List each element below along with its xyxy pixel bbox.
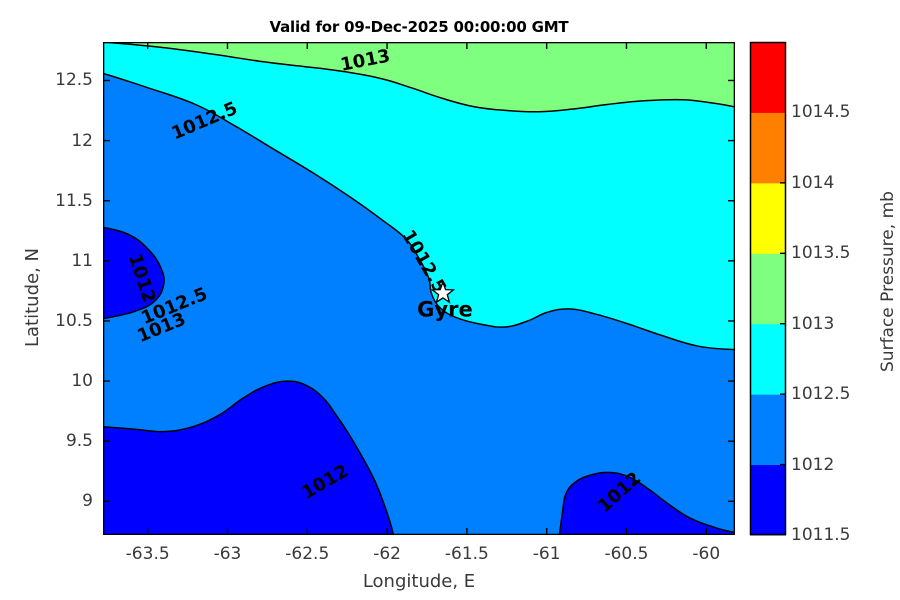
x-tick-label-4: -61.5 <box>445 544 489 564</box>
contour-plot: 10131012.51012.510121012.5101310121012Gy… <box>103 42 735 535</box>
colorbar-band-1011.5 <box>750 465 786 536</box>
x-axis-label: Longitude, E <box>103 571 735 592</box>
colorbar-label-6: 1014.5 <box>791 102 850 122</box>
y-tick-label-5: 11.5 <box>5 191 93 211</box>
colorbar-label-4: 1013.5 <box>791 243 850 263</box>
figure-root: Valid for 09-Dec-2025 00:00:00 GMT 10131… <box>0 0 900 600</box>
colorbar-band-1013 <box>750 253 786 324</box>
y-axis-label: Latitude, N <box>22 248 43 347</box>
y-tick-label-6: 12 <box>5 131 93 151</box>
colorbar-band-1013.5 <box>750 183 786 254</box>
colorbar-label-3: 1013 <box>791 314 834 334</box>
x-tick-label-7: -60 <box>692 544 720 564</box>
marker-label-gyre: Gyre <box>417 297 473 321</box>
y-tick-label-4: 11 <box>5 251 93 271</box>
colorbar-band-1012 <box>750 394 786 465</box>
x-tick-label-1: -63 <box>214 544 242 564</box>
x-tick-label-2: -62.5 <box>285 544 329 564</box>
x-tick-label-3: -62 <box>373 544 401 564</box>
colorbar-title: Surface Pressure, mb <box>878 191 898 372</box>
colorbar <box>749 40 789 537</box>
colorbar-label-0: 1011.5 <box>791 525 850 545</box>
y-tick-label-1: 9.5 <box>5 431 93 451</box>
colorbar-label-5: 1014 <box>791 173 834 193</box>
colorbar-band-1014.5 <box>750 42 786 113</box>
y-tick-label-7: 12.5 <box>5 70 93 90</box>
colorbar-band-1014 <box>750 112 786 183</box>
x-tick-label-5: -61 <box>533 544 561 564</box>
y-tick-label-3: 10.5 <box>5 311 93 331</box>
y-tick-label-0: 9 <box>5 491 93 511</box>
x-tick-label-6: -60.5 <box>604 544 648 564</box>
colorbar-label-1: 1012 <box>791 455 834 475</box>
y-tick-label-2: 10 <box>5 371 93 391</box>
figure-title: Valid for 09-Dec-2025 00:00:00 GMT <box>103 18 735 36</box>
x-tick-label-0: -63.5 <box>126 544 170 564</box>
plot-area: 10131012.51012.510121012.5101310121012Gy… <box>103 42 735 535</box>
colorbar-band-1012.5 <box>750 324 786 395</box>
colorbar-label-2: 1012.5 <box>791 384 850 404</box>
